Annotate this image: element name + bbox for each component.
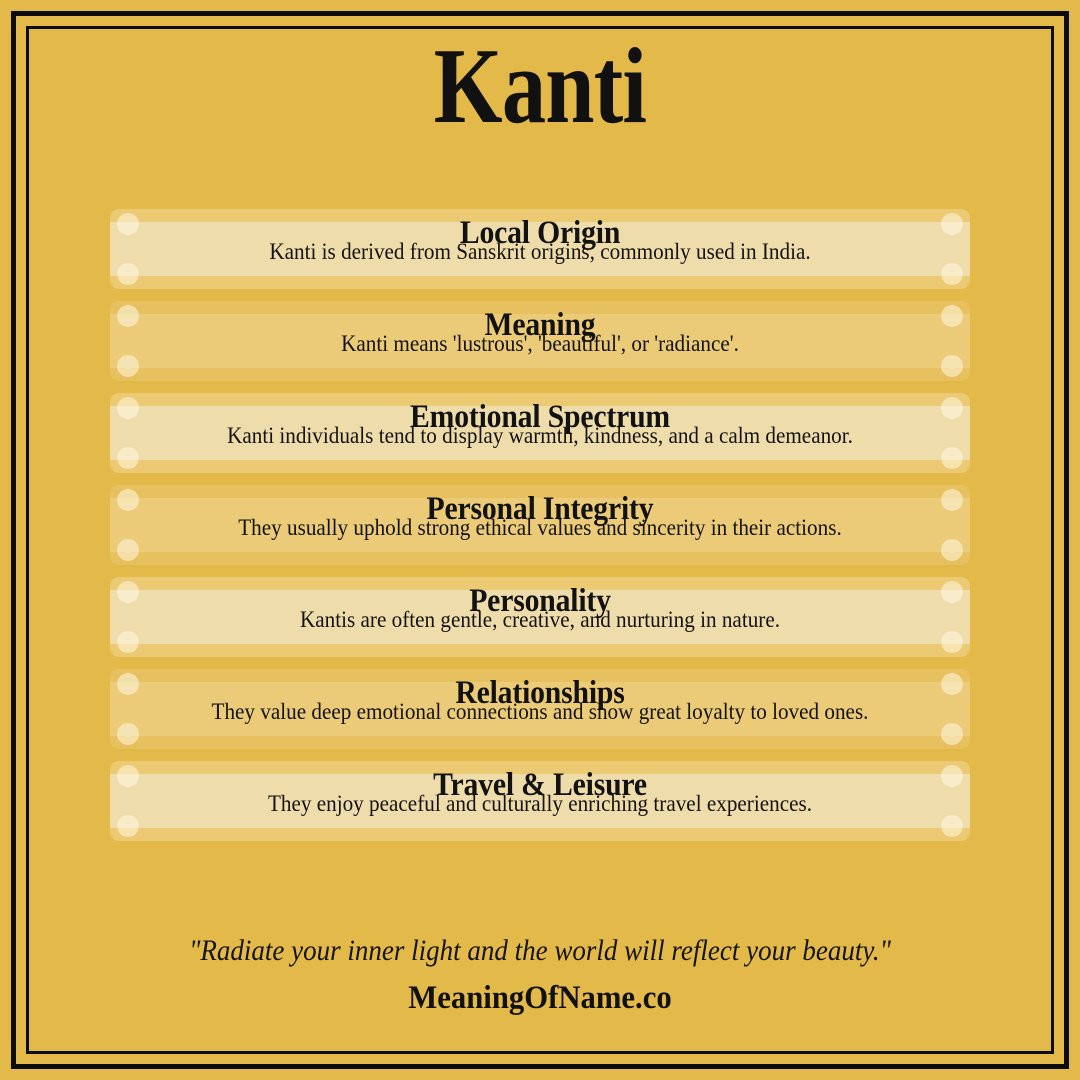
section-description: Kanti means 'lustrous', 'beautiful', or … [144, 331, 935, 357]
section-card: Personal IntegrityThey usually uphold st… [110, 485, 970, 565]
section-card: Local OriginKanti is derived from Sanskr… [110, 209, 970, 289]
section-card-text: Emotional SpectrumKanti individuals tend… [110, 393, 970, 473]
section-card: Emotional SpectrumKanti individuals tend… [110, 393, 970, 473]
section-card: PersonalityKantis are often gentle, crea… [110, 577, 970, 657]
sections-list: Local OriginKanti is derived from Sanskr… [110, 209, 970, 853]
section-card-text: Local OriginKanti is derived from Sanskr… [110, 209, 970, 289]
footer-quote: "Radiate your inner light and the world … [54, 933, 1026, 969]
section-card-text: MeaningKanti means 'lustrous', 'beautifu… [110, 301, 970, 381]
section-card-text: Travel & LeisureThey enjoy peaceful and … [110, 761, 970, 841]
section-card-text: Personal IntegrityThey usually uphold st… [110, 485, 970, 565]
section-description: Kantis are often gentle, creative, and n… [144, 607, 935, 633]
section-description: They usually uphold strong ethical value… [144, 515, 935, 541]
page-title: Kanti [97, 32, 983, 142]
section-card: Travel & LeisureThey enjoy peaceful and … [110, 761, 970, 841]
section-card: MeaningKanti means 'lustrous', 'beautifu… [110, 301, 970, 381]
section-description: They value deep emotional connections an… [144, 699, 935, 725]
name-meaning-poster: Kanti Local OriginKanti is derived from … [0, 0, 1080, 1080]
section-card-text: PersonalityKantis are often gentle, crea… [110, 577, 970, 657]
section-card-text: RelationshipsThey value deep emotional c… [110, 669, 970, 749]
section-card: RelationshipsThey value deep emotional c… [110, 669, 970, 749]
footer-brand: MeaningOfName.co [38, 978, 1042, 1018]
section-description: They enjoy peaceful and culturally enric… [144, 791, 935, 817]
section-description: Kanti individuals tend to display warmth… [144, 423, 935, 449]
section-description: Kanti is derived from Sanskrit origins, … [144, 239, 935, 265]
